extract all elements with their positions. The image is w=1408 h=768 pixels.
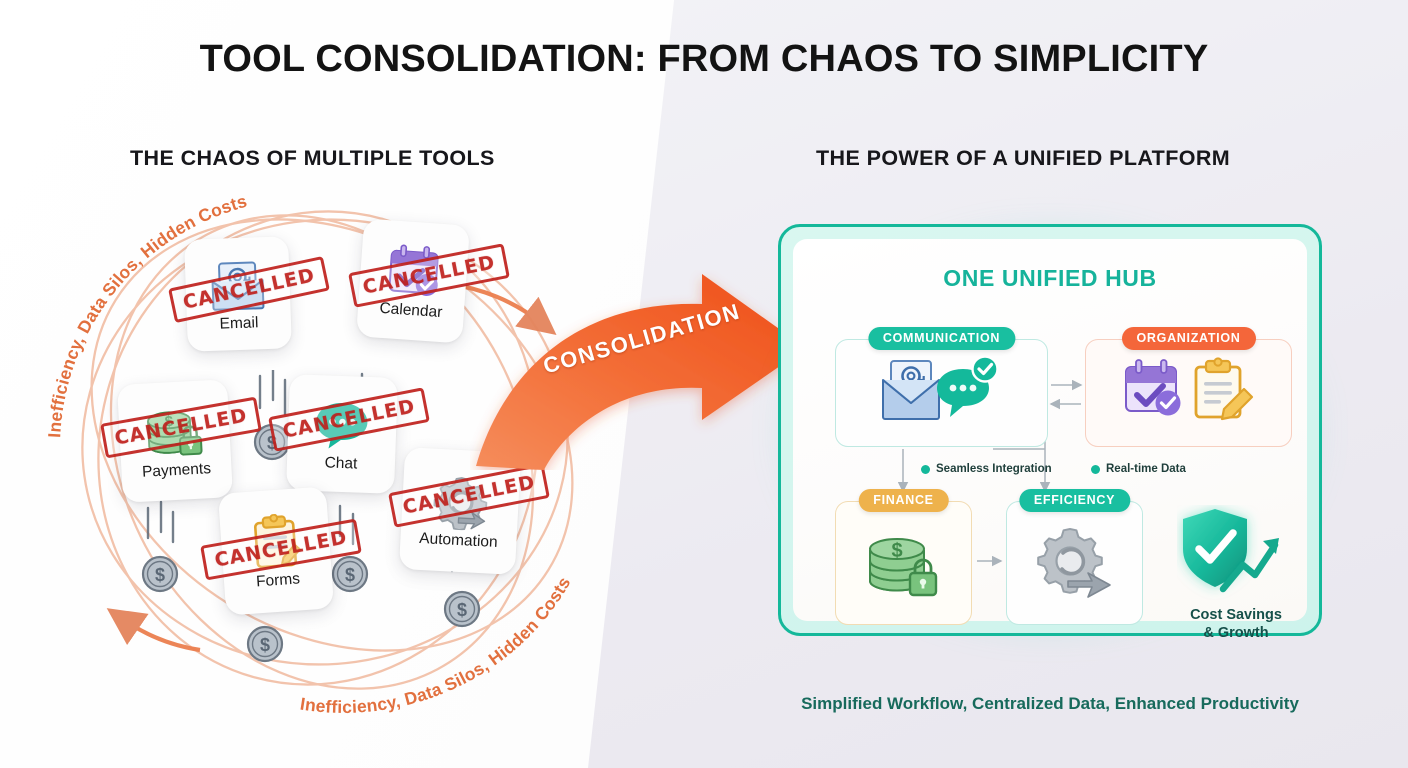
pill-finance: FINANCE xyxy=(858,489,948,512)
bullet-dot-icon xyxy=(1091,465,1100,474)
left-section-heading: THE CHAOS OF MULTIPLE TOOLS xyxy=(130,146,495,171)
dollar-coin-icon: $ xyxy=(445,592,479,626)
tool-label-forms: Forms xyxy=(256,571,301,590)
hub-quadrant-finance[interactable]: FINANCE $ xyxy=(835,501,972,625)
hub-quadrant-communication[interactable]: COMMUNICATION xyxy=(835,339,1048,447)
envelope-at-icon xyxy=(883,361,939,419)
pill-communication: COMMUNICATION xyxy=(868,327,1015,350)
svg-text:$: $ xyxy=(345,565,355,585)
organization-icons xyxy=(1114,355,1264,431)
svg-text:$: $ xyxy=(260,635,270,655)
dollar-coin-icon: $ xyxy=(248,627,282,661)
tool-label-payments: Payments xyxy=(142,461,212,480)
cost-savings-line1: Cost Savings xyxy=(1190,607,1282,625)
hub-quadrant-organization[interactable]: ORGANIZATION xyxy=(1085,339,1292,447)
cost-savings-line2: & Growth xyxy=(1190,625,1282,643)
tool-label-chat: Chat xyxy=(324,455,357,472)
clipboard-pencil-icon xyxy=(1196,358,1252,419)
svg-text:$: $ xyxy=(891,540,902,562)
dollar-coin-icon: $ xyxy=(143,557,177,591)
svg-text:$: $ xyxy=(155,565,165,585)
dollar-coin-icon: $ xyxy=(333,557,367,591)
unified-hub-panel: ONE UNIFIED HUB COMMUNICATION xyxy=(778,224,1322,636)
communication-icons xyxy=(867,355,1017,431)
falling-money-group-6: $ xyxy=(233,610,303,680)
tool-label-automation: Automation xyxy=(419,531,498,551)
svg-text:$: $ xyxy=(457,600,467,620)
chat-check-icon xyxy=(937,357,998,418)
tool-label-email: Email xyxy=(219,315,258,332)
tool-label-calendar: Calendar xyxy=(379,301,443,321)
right-tagline: Simplified Workflow, Centralized Data, E… xyxy=(766,694,1334,714)
coins-lock-icon: $ xyxy=(861,523,947,603)
hub-quadrant-efficiency[interactable]: EFFICIENCY xyxy=(1006,501,1143,625)
cost-savings-block: Cost Savings & Growth xyxy=(1161,505,1311,642)
gear-arrow-icon xyxy=(1032,523,1118,603)
note-seamless-integration-label: Seamless Integration xyxy=(936,463,1052,475)
note-real-time-data-label: Real-time Data xyxy=(1106,463,1186,475)
pill-organization: ORGANIZATION xyxy=(1122,327,1256,350)
falling-money-group-3: $ xyxy=(128,500,198,610)
shield-check-growth-icon xyxy=(1177,505,1295,603)
calendar-check-icon xyxy=(1126,360,1181,416)
note-real-time-data: Real-time Data xyxy=(1091,463,1186,475)
right-section-heading: THE POWER OF A UNIFIED PLATFORM xyxy=(816,146,1230,171)
cost-savings-label: Cost Savings & Growth xyxy=(1190,607,1282,642)
bullet-dot-icon xyxy=(921,465,930,474)
note-seamless-integration: Seamless Integration xyxy=(921,463,1052,475)
page-title: TOOL CONSOLIDATION: FROM CHAOS TO SIMPLI… xyxy=(0,38,1408,81)
pill-efficiency: EFFICIENCY xyxy=(1019,489,1130,512)
